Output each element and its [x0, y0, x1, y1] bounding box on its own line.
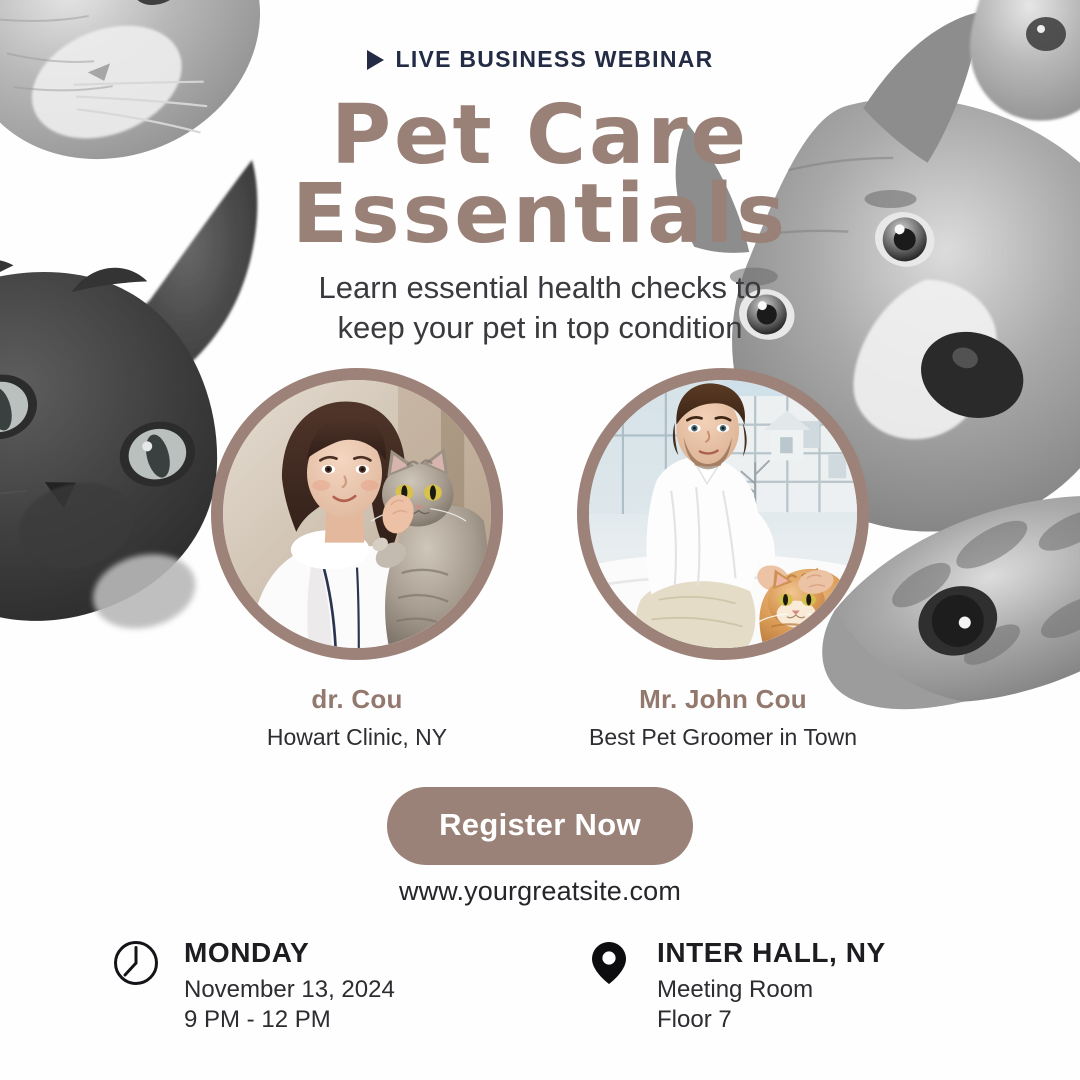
venue-heading: INTER HALL, NY: [657, 938, 886, 969]
venue-info-block: INTER HALL, NY Meeting Room Floor 7: [555, 938, 968, 1034]
date-line-2: 9 PM - 12 PM: [184, 1005, 395, 1035]
speaker-role: Howart Clinic, NY: [192, 724, 522, 751]
avatar-photo-man-with-cat: [577, 368, 869, 660]
eyebrow-banner: LIVE BUSINESS WEBINAR: [0, 46, 1080, 73]
date-heading: MONDAY: [184, 938, 395, 969]
speaker-card-2: Mr. John Cou Best Pet Groomer in Town: [558, 368, 888, 751]
date-line-1: November 13, 2024: [184, 975, 395, 1005]
date-info-text: MONDAY November 13, 2024 9 PM - 12 PM: [184, 938, 395, 1034]
play-triangle-icon: [367, 50, 384, 70]
poster-canvas: LIVE BUSINESS WEBINAR Pet Care Essential…: [0, 0, 1080, 1080]
speaker-name: Mr. John Cou: [558, 684, 888, 715]
register-now-button[interactable]: Register Now: [387, 787, 693, 865]
clock-icon: [112, 939, 160, 987]
footer-info: MONDAY November 13, 2024 9 PM - 12 PM IN…: [0, 938, 1080, 1034]
cta-container: Register Now: [0, 787, 1080, 865]
venue-info-text: INTER HALL, NY Meeting Room Floor 7: [657, 938, 886, 1034]
venue-line-1: Meeting Room: [657, 975, 886, 1005]
speaker-card-1: dr. Cou Howart Clinic, NY: [192, 368, 522, 751]
venue-line-2: Floor 7: [657, 1005, 886, 1035]
website-url-link[interactable]: www.yourgreatsite.com: [0, 876, 1080, 907]
subtitle-line-2: keep your pet in top condition: [338, 310, 743, 345]
speakers-section: dr. Cou Howart Clinic, NY: [0, 368, 1080, 751]
subtitle-line-1: Learn essential health checks to: [319, 270, 762, 305]
eyebrow-label: LIVE BUSINESS WEBINAR: [396, 46, 714, 73]
date-info-block: MONDAY November 13, 2024 9 PM - 12 PM: [112, 938, 495, 1034]
speaker-role: Best Pet Groomer in Town: [558, 724, 888, 751]
title-line-2: Essentials: [0, 176, 1080, 255]
location-pin-icon: [585, 939, 633, 987]
poster-content: LIVE BUSINESS WEBINAR Pet Care Essential…: [0, 0, 1080, 1080]
avatar-photo-woman-with-cat: [211, 368, 503, 660]
speaker-name: dr. Cou: [192, 684, 522, 715]
page-title: Pet Care Essentials: [0, 97, 1080, 254]
subtitle: Learn essential health checks to keep yo…: [0, 268, 1080, 347]
